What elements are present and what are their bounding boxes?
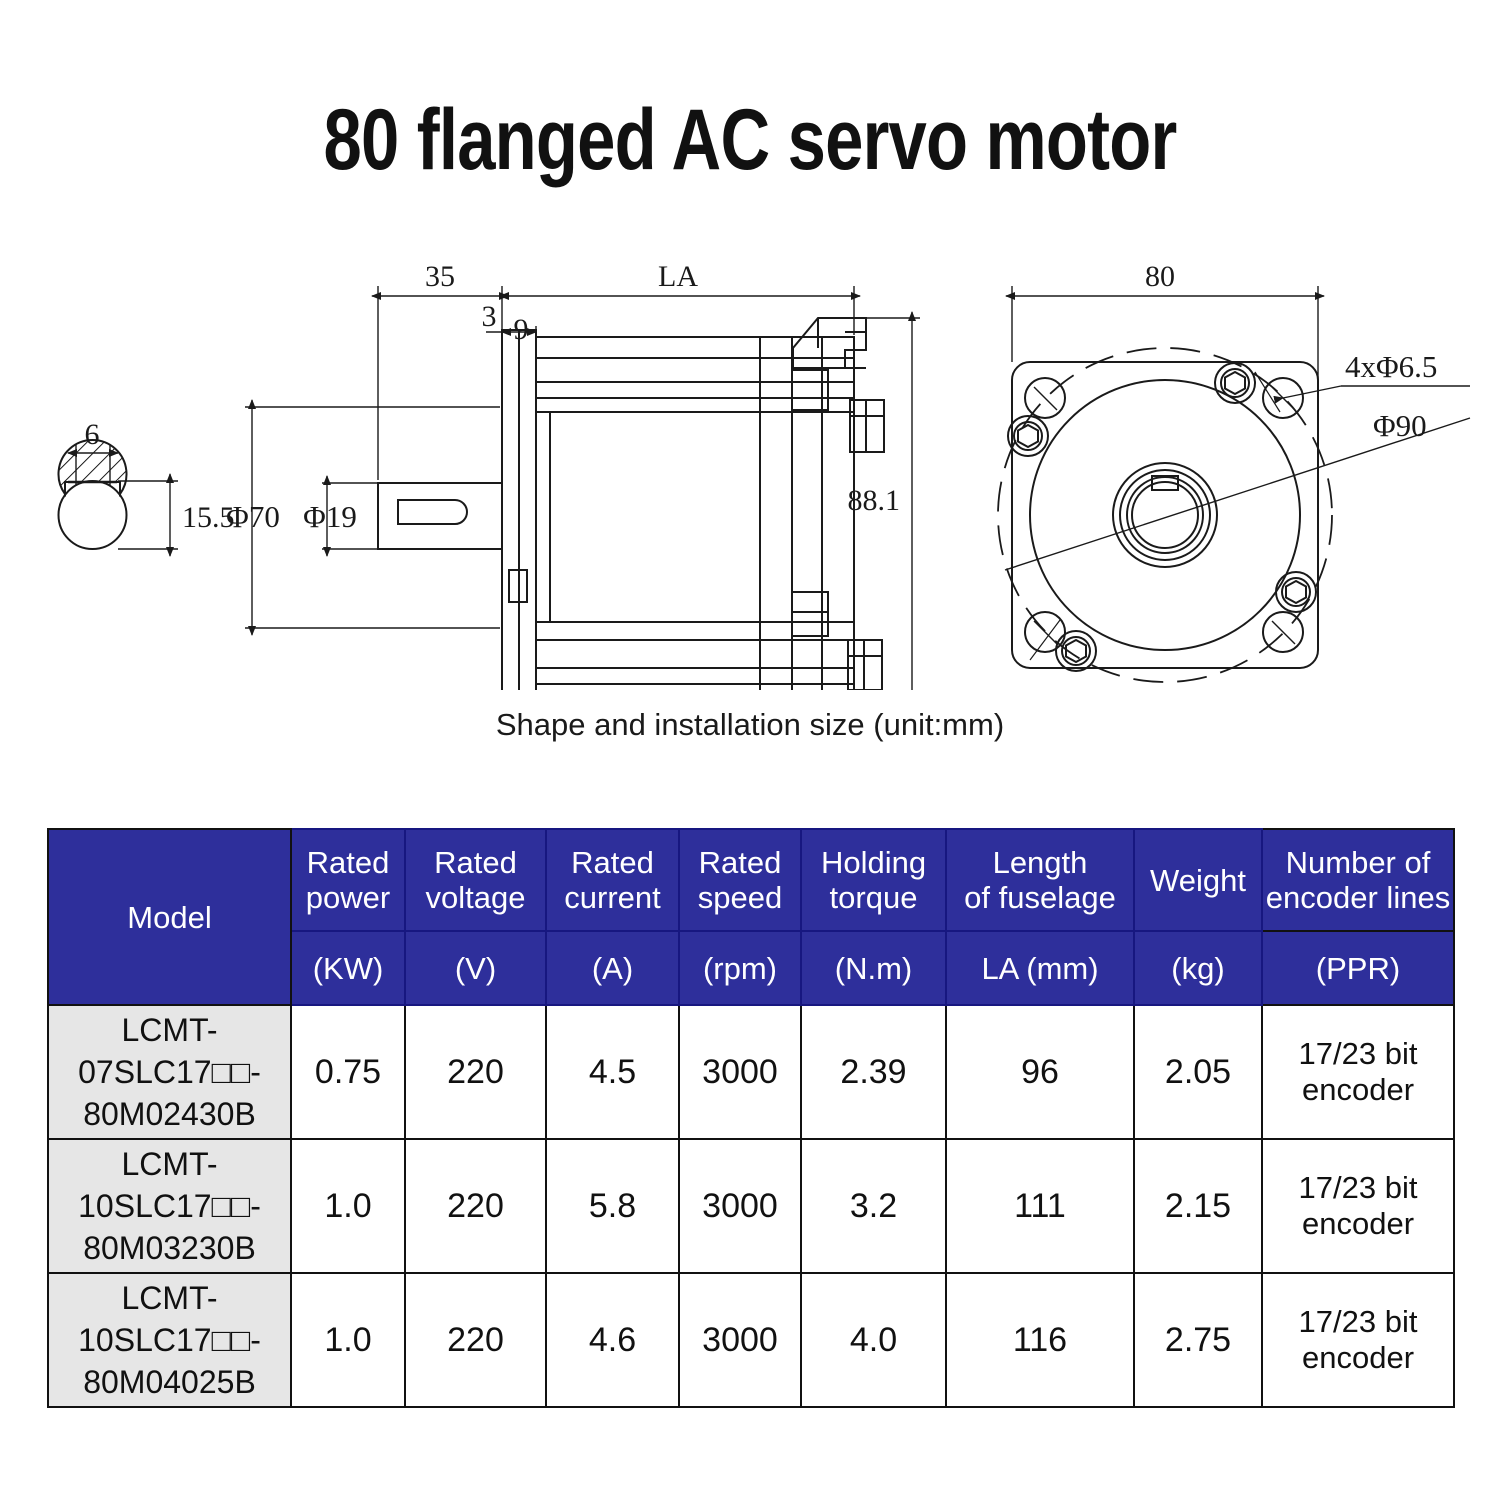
cell-weight: 2.05 [1134, 1005, 1262, 1139]
column-unit-encoder: (PPR) [1262, 931, 1454, 1005]
dim-body-length-la: LA [658, 260, 698, 293]
front-view-dimensions [1005, 286, 1470, 660]
cell-rated-speed: 3000 [679, 1005, 801, 1139]
cell-encoder: 17/23 bit encoder [1262, 1139, 1454, 1273]
cell-rated-current: 4.5 [546, 1005, 679, 1139]
motor-side-view [378, 318, 884, 690]
header-line-1: Number of [1263, 845, 1453, 880]
table-row: LCMT- 07SLC17□□- 80M02430B 0.75 220 4.5 … [48, 1005, 1454, 1139]
header-line-1: Length [947, 845, 1133, 880]
specification-table: Model Rated power Rated voltage Rated cu… [47, 828, 1455, 1408]
column-header-weight: Weight [1134, 829, 1262, 931]
cell-length: 96 [946, 1005, 1134, 1139]
header-line-2: current [547, 880, 678, 915]
cell-weight: 2.75 [1134, 1273, 1262, 1407]
cell-rated-power: 1.0 [291, 1139, 405, 1273]
dim-step-9: 9 [514, 313, 529, 346]
table-header-row-name: Model Rated power Rated voltage Rated cu… [48, 829, 1454, 931]
cell-model: LCMT- 10SLC17□□- 80M03230B [48, 1139, 291, 1273]
header-line-2: voltage [406, 880, 545, 915]
model-line-2: 07SLC17□□- [49, 1051, 290, 1093]
column-unit-length: LA (mm) [946, 931, 1134, 1005]
dim-square-width: 80 [1145, 260, 1175, 293]
header-line-1: Rated [292, 845, 404, 880]
header-line-1: Rated [406, 845, 545, 880]
cell-model: LCMT- 10SLC17□□- 80M04025B [48, 1273, 291, 1407]
column-unit-current: (A) [546, 931, 679, 1005]
column-header-model: Model [48, 829, 291, 1005]
column-unit-weight: (kg) [1134, 931, 1262, 1005]
cell-rated-power: 1.0 [291, 1273, 405, 1407]
cell-weight: 2.15 [1134, 1139, 1262, 1273]
model-line-2: 10SLC17□□- [49, 1319, 290, 1361]
dim-flange-thickness: 35 [425, 260, 455, 293]
column-header-rated-power: Rated power [291, 829, 405, 931]
dim-flange-diameter: Φ70 [226, 499, 280, 534]
cell-holding-torque: 3.2 [801, 1139, 946, 1273]
header-line-2: torque [802, 880, 945, 915]
cell-rated-power: 0.75 [291, 1005, 405, 1139]
dim-shaft-diameter: Φ19 [303, 499, 357, 534]
column-header-length-of-fuselage: Length of fuselage [946, 829, 1134, 931]
encoder-line-1: 17/23 bit [1263, 1170, 1453, 1206]
column-header-rated-voltage: Rated voltage [405, 829, 546, 931]
cell-rated-voltage: 220 [405, 1139, 546, 1273]
header-line-2: of fuselage [947, 880, 1133, 915]
column-unit-voltage: (V) [405, 931, 546, 1005]
column-header-rated-speed: Rated speed [679, 829, 801, 931]
column-unit-speed: (rpm) [679, 931, 801, 1005]
dim-key-width: 6 [85, 418, 100, 451]
cell-rated-voltage: 220 [405, 1273, 546, 1407]
cell-length: 111 [946, 1139, 1134, 1273]
cell-encoder: 17/23 bit encoder [1262, 1005, 1454, 1139]
cell-rated-speed: 3000 [679, 1273, 801, 1407]
cell-holding-torque: 4.0 [801, 1273, 946, 1407]
dim-body-height: 88.1 [848, 484, 901, 517]
encoder-line-2: encoder [1263, 1340, 1453, 1376]
column-header-encoder-lines: Number of encoder lines [1262, 829, 1454, 931]
column-unit-torque: (N.m) [801, 931, 946, 1005]
model-line-1: LCMT- [49, 1277, 290, 1319]
model-line-3: 80M04025B [49, 1361, 290, 1403]
column-header-rated-current: Rated current [546, 829, 679, 931]
dim-step-3: 3 [482, 300, 497, 333]
header-line-1: Rated [547, 845, 678, 880]
cell-model: LCMT- 07SLC17□□- 80M02430B [48, 1005, 291, 1139]
header-line-1: Weight [1135, 863, 1261, 898]
cell-encoder: 17/23 bit encoder [1262, 1273, 1454, 1407]
model-line-3: 80M03230B [49, 1227, 290, 1269]
cell-rated-current: 4.6 [546, 1273, 679, 1407]
cell-rated-voltage: 220 [405, 1005, 546, 1139]
spec-table-container: Model Rated power Rated voltage Rated cu… [47, 828, 1453, 1408]
header-line-2: power [292, 880, 404, 915]
cell-length: 116 [946, 1273, 1134, 1407]
header-line-1: Rated [680, 845, 800, 880]
column-header-holding-torque: Holding torque [801, 829, 946, 931]
model-line-2: 10SLC17□□- [49, 1185, 290, 1227]
technical-drawing: 6 15.5 Φ70 Φ19 35 LA 3 9 88.1 80 4xΦ6.5 … [0, 240, 1500, 690]
dim-bolt-circle: Φ90 [1373, 408, 1427, 443]
cell-rated-current: 5.8 [546, 1139, 679, 1273]
header-line-2: speed [680, 880, 800, 915]
drawing-caption: Shape and installation size (unit:mm) [0, 705, 1500, 745]
model-line-3: 80M02430B [49, 1093, 290, 1135]
encoder-line-2: encoder [1263, 1206, 1453, 1242]
motor-front-view [998, 348, 1332, 682]
table-row: LCMT- 10SLC17□□- 80M03230B 1.0 220 5.8 3… [48, 1139, 1454, 1273]
encoder-line-2: encoder [1263, 1072, 1453, 1108]
dim-mounting-holes: 4xΦ6.5 [1345, 349, 1437, 384]
shaft-cross-section [58, 440, 178, 556]
cell-rated-speed: 3000 [679, 1139, 801, 1273]
header-line-2: encoder lines [1263, 880, 1453, 915]
encoder-line-1: 17/23 bit [1263, 1036, 1453, 1072]
model-line-1: LCMT- [49, 1143, 290, 1185]
model-line-1: LCMT- [49, 1009, 290, 1051]
encoder-line-1: 17/23 bit [1263, 1304, 1453, 1340]
cell-holding-torque: 2.39 [801, 1005, 946, 1139]
table-row: LCMT- 10SLC17□□- 80M04025B 1.0 220 4.6 3… [48, 1273, 1454, 1407]
header-line-1: Holding [802, 845, 945, 880]
column-unit-power: (KW) [291, 931, 405, 1005]
page-title: 80 flanged AC servo motor [150, 92, 1350, 188]
